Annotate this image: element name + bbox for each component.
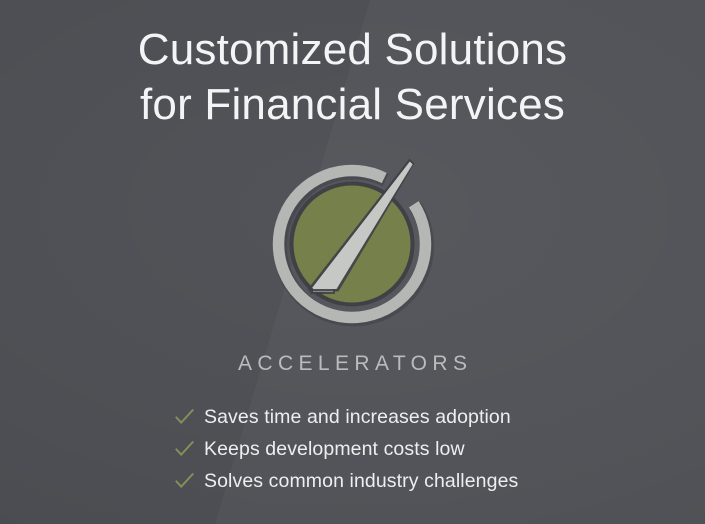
brand-label: ACCELERATORS [0, 352, 705, 376]
list-item-label: Keeps development costs low [204, 437, 465, 461]
slide-title: Customized Solutions for Financial Servi… [0, 22, 705, 132]
check-icon [174, 439, 195, 460]
list-item-label: Solves common industry challenges [204, 469, 518, 493]
list-item-label: Saves time and increases adoption [204, 405, 511, 429]
list-item: Keeps development costs low [174, 434, 614, 464]
list-item: Saves time and increases adoption [174, 402, 614, 432]
check-icon [174, 407, 195, 428]
slide-canvas: Customized Solutions for Financial Servi… [0, 0, 705, 524]
list-item: Solves common industry challenges [174, 466, 614, 496]
title-line-1: Customized Solutions [0, 22, 705, 77]
benefits-list: Saves time and increases adoption Keeps … [174, 402, 614, 498]
accelerators-gauge-logo [243, 142, 463, 350]
title-line-2: for Financial Services [0, 77, 705, 132]
check-icon [174, 471, 195, 492]
